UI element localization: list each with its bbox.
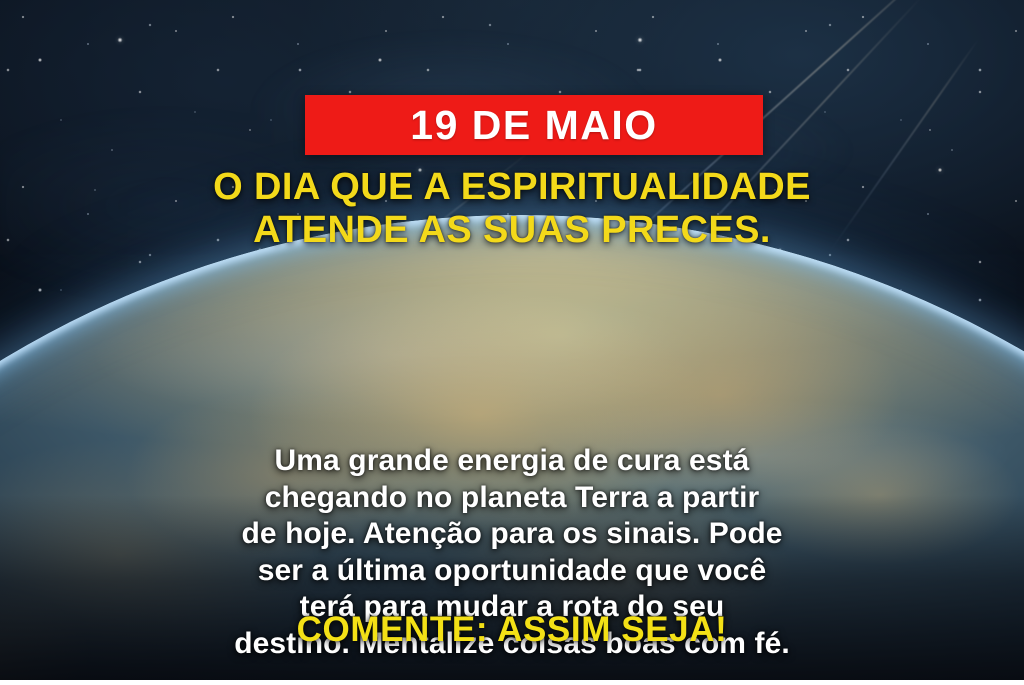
- bottom-white-strip: [0, 680, 1024, 685]
- body-line-2: chegando no planeta Terra a partir: [26, 480, 998, 517]
- body-line-4: ser a última oportunidade que você: [26, 553, 998, 590]
- body-line-1: Uma grande energia de cura está: [26, 443, 998, 480]
- date-banner: 19 DE MAIO: [305, 95, 763, 155]
- headline: O DIA QUE A ESPIRITUALIDADE ATENDE AS SU…: [0, 166, 1024, 251]
- poster-content: 19 DE MAIO O DIA QUE A ESPIRITUALIDADE A…: [0, 0, 1024, 685]
- call-to-action-text: COMENTE: ASSIM SEJA!: [0, 612, 1024, 647]
- date-banner-text: 19 DE MAIO: [410, 105, 657, 146]
- headline-line-1: O DIA QUE A ESPIRITUALIDADE: [40, 166, 984, 209]
- body-line-3: de hoje. Atenção para os sinais. Pode: [26, 516, 998, 553]
- headline-line-2: ATENDE AS SUAS PRECES.: [40, 209, 984, 252]
- poster-root: 19 DE MAIO O DIA QUE A ESPIRITUALIDADE A…: [0, 0, 1024, 685]
